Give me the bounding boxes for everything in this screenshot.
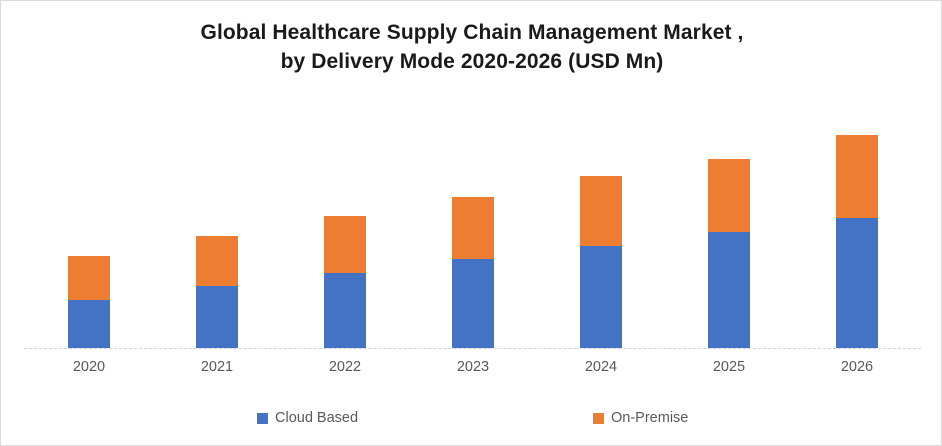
- bar-segment-on-premise-2024[interactable]: [580, 176, 622, 246]
- x-axis-tick-2021: 2021: [177, 359, 257, 375]
- bar-segment-on-premise-2022[interactable]: [324, 216, 366, 273]
- bar-segment-cloud-based-2026[interactable]: [836, 218, 878, 348]
- bar-segment-cloud-based-2023[interactable]: [452, 259, 494, 348]
- legend-item-cloud-based[interactable]: Cloud Based: [257, 410, 358, 426]
- x-axis-baseline: [24, 348, 921, 349]
- x-axis-tick-2025: 2025: [689, 359, 769, 375]
- legend-label: Cloud Based: [275, 410, 358, 426]
- x-axis-tick-2023: 2023: [433, 359, 513, 375]
- bar-segment-cloud-based-2025[interactable]: [708, 232, 750, 348]
- bar-group-2025[interactable]: [708, 159, 750, 348]
- x-axis-tick-2022: 2022: [305, 359, 385, 375]
- legend-swatch-icon: [593, 413, 604, 424]
- bar-group-2022[interactable]: [324, 216, 366, 348]
- x-axis-labels: 2020202120222023202420252026: [1, 359, 942, 383]
- legend-item-on-premise[interactable]: On-Premise: [593, 410, 688, 426]
- x-axis-tick-2026: 2026: [817, 359, 897, 375]
- legend-swatch-icon: [257, 413, 268, 424]
- bar-group-2021[interactable]: [196, 236, 238, 348]
- legend-label: On-Premise: [611, 410, 688, 426]
- bar-segment-cloud-based-2020[interactable]: [68, 300, 110, 348]
- bar-segment-cloud-based-2024[interactable]: [580, 246, 622, 348]
- bar-group-2024[interactable]: [580, 176, 622, 348]
- bar-group-2023[interactable]: [452, 197, 494, 348]
- bar-segment-on-premise-2025[interactable]: [708, 159, 750, 232]
- chart-legend: Cloud BasedOn-Premise: [1, 410, 942, 432]
- x-axis-tick-2020: 2020: [49, 359, 129, 375]
- bar-group-2020[interactable]: [68, 256, 110, 348]
- bar-segment-on-premise-2026[interactable]: [836, 135, 878, 218]
- bar-group-2026[interactable]: [836, 135, 878, 348]
- bars-layer: [1, 1, 942, 348]
- bar-segment-on-premise-2023[interactable]: [452, 197, 494, 259]
- x-axis-tick-2024: 2024: [561, 359, 641, 375]
- bar-segment-on-premise-2021[interactable]: [196, 236, 238, 286]
- chart-container: Global Healthcare Supply Chain Managemen…: [0, 0, 942, 446]
- bar-segment-cloud-based-2021[interactable]: [196, 286, 238, 348]
- bar-segment-on-premise-2020[interactable]: [68, 256, 110, 300]
- bar-segment-cloud-based-2022[interactable]: [324, 273, 366, 348]
